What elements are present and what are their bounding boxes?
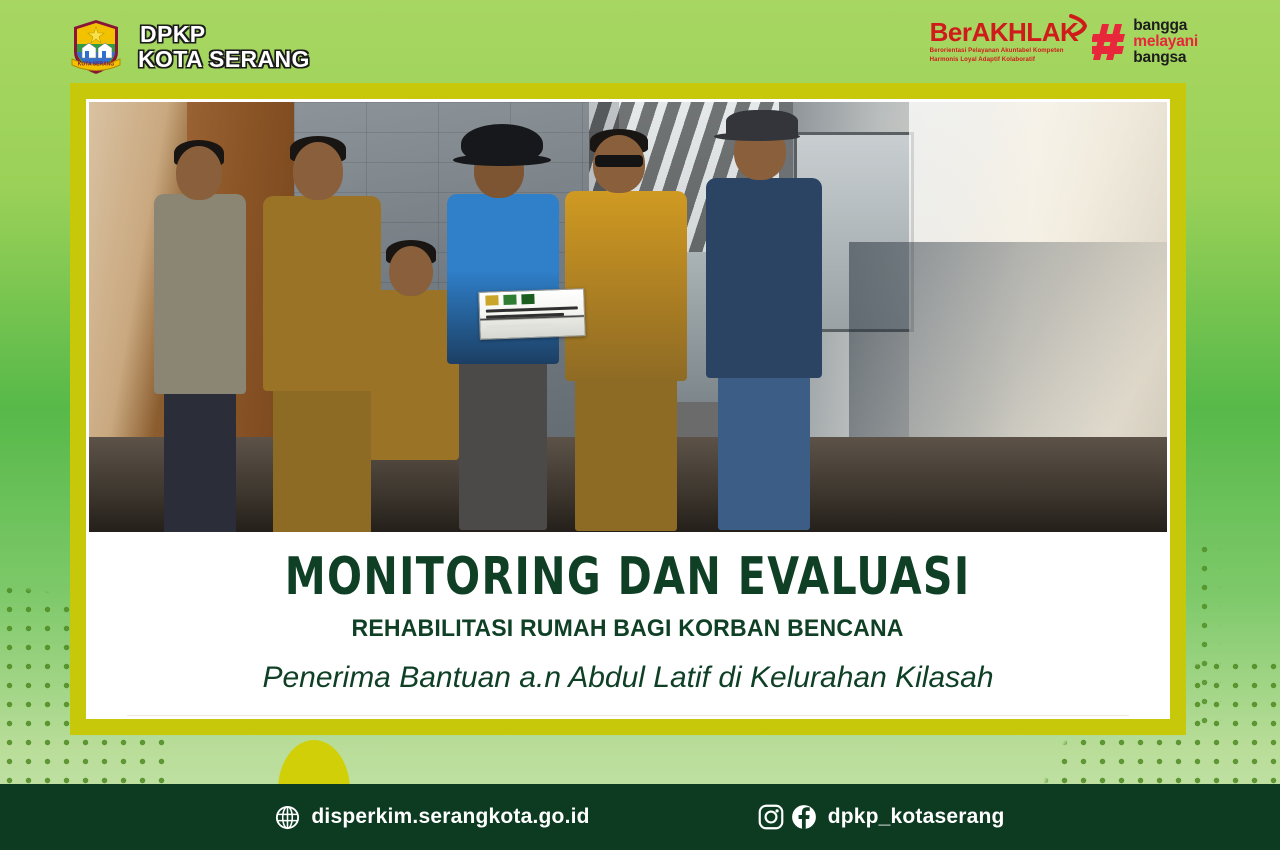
berakhlak-tagline: Berorientasi Pelayanan Akuntabel Kompete… (930, 47, 1066, 64)
bangga-word-3: bangsa (1133, 50, 1198, 66)
bangga-word-2: melayani (1133, 34, 1198, 50)
berakhlak-tagline-line-2: Harmonis Loyal Adaptif Kolaboratif (930, 56, 1066, 64)
instagram-icon[interactable] (758, 804, 784, 830)
photo-person-navy-cap (704, 102, 824, 532)
footer-bar: disperkim.serangkota.go.id dpkp_kotasera… (0, 784, 1280, 850)
berakhlak-logo: BerAKHLAK Berorientasi Pelayanan Akuntab… (930, 19, 1079, 64)
brand-block: KOTA SERANG DPKP KOTA SERANG (68, 18, 310, 76)
social-icons (758, 804, 817, 830)
frame-inner: MONITORING DAN EVALUASI REHABILITASI RUM… (86, 99, 1170, 719)
social-handle-block[interactable]: dpkp_kotaserang (758, 804, 1005, 830)
svg-text:KOTA SERANG: KOTA SERANG (78, 62, 115, 68)
photo-person-khaki-left (257, 112, 387, 532)
bangga-melayani-bangsa-logo: bangga melayani bangsa (1092, 18, 1198, 65)
header-bar: KOTA SERANG DPKP KOTA SERANG BerAKHLAK B… (0, 0, 1280, 83)
website-url: disperkim.serangkota.go.id (311, 805, 589, 829)
hashtag-icon (1092, 22, 1126, 62)
facebook-icon[interactable] (791, 804, 817, 830)
photo-person-grey-shirt (144, 132, 254, 532)
page-note: Penerima Bantuan a.n Abdul Latif di Kelu… (262, 661, 993, 695)
bangga-word-1: bangga (1133, 18, 1198, 34)
content-frame: MONITORING DAN EVALUASI REHABILITASI RUM… (70, 83, 1186, 735)
website-link[interactable]: disperkim.serangkota.go.id (275, 805, 589, 830)
swoosh-arrow-icon (1069, 14, 1087, 36)
bantuan-signboard-icon (478, 288, 586, 340)
berakhlak-wordmark: BerAKHLAK (930, 19, 1079, 45)
bangga-wordmark: bangga melayani bangsa (1133, 18, 1198, 65)
org-line-2: KOTA SERANG (138, 47, 310, 72)
berakhlak-tagline-line-1: Berorientasi Pelayanan Akuntabel Kompete… (930, 47, 1066, 55)
caption-panel: MONITORING DAN EVALUASI REHABILITASI RUM… (89, 532, 1167, 716)
globe-icon (275, 805, 300, 830)
event-photo (89, 102, 1167, 532)
org-line-1: DPKP (138, 22, 310, 47)
social-handle: dpkp_kotaserang (828, 805, 1005, 829)
brand-title: DPKP KOTA SERANG (138, 22, 310, 72)
page-title: MONITORING DAN EVALUASI (285, 550, 971, 605)
dot-pattern-right-column (1195, 540, 1221, 730)
campaign-badges: BerAKHLAK Berorientasi Pelayanan Akuntab… (930, 18, 1198, 65)
kota-serang-coat-of-arms-icon: KOTA SERANG (68, 18, 124, 76)
caption-divider (127, 715, 1130, 716)
page-subtitle: REHABILITASI RUMAH BAGI KORBAN BENCANA (352, 615, 904, 643)
